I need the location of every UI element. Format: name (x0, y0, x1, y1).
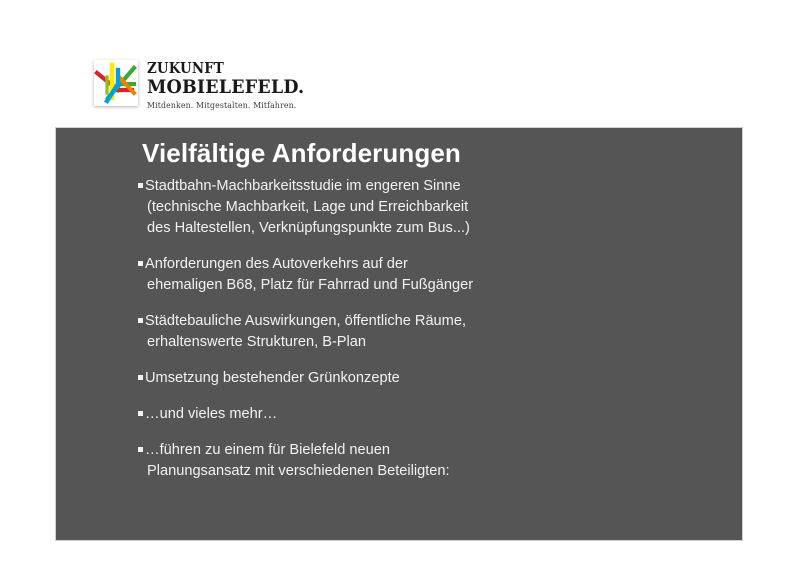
list-item: Städtebauliche Auswirkungen, öffentliche… (138, 311, 608, 353)
bullet-list: Stadtbahn-Machbarkeitsstudie im engeren … (138, 176, 608, 482)
list-item: …führen zu einem für Bielefeld neuen Pla… (138, 440, 608, 482)
zukunft-mobielefeld-star-logo (94, 60, 138, 106)
list-item: Umsetzung bestehender Grünkonzepte (138, 368, 608, 389)
list-item-text: …und vieles mehr… (145, 406, 277, 422)
list-item-text: …führen zu einem für Bielefeld neuen Pla… (145, 442, 450, 479)
brand-wordmark-line-1: ZUKUNFT (147, 62, 304, 77)
square-bullet-icon (138, 183, 143, 188)
square-bullet-icon (138, 261, 143, 266)
brand-tagline: Mitdenken. Mitgestalten. Mitfahren. (147, 101, 309, 109)
page-title: Vielfältige Anforderungen (142, 138, 461, 169)
list-item-text: Stadtbahn-Machbarkeitsstudie im engeren … (145, 178, 470, 236)
slide-content-panel: Vielfältige Anforderungen Stadtbahn-Mach… (56, 128, 742, 540)
list-item: Stadtbahn-Machbarkeitsstudie im engeren … (138, 176, 608, 239)
brand-wordmark: ZUKUNFT MOBIELEFELD. Mitdenken. Mitgesta… (147, 60, 318, 109)
list-item: …und vieles mehr… (138, 404, 608, 425)
square-bullet-icon (138, 318, 143, 323)
brand-wordmark-line-2: MOBIELEFELD. (147, 78, 304, 97)
square-bullet-icon (138, 375, 143, 380)
square-bullet-icon (138, 411, 143, 416)
list-item: Anforderungen des Autoverkehrs auf der e… (138, 254, 608, 296)
list-item-text: Umsetzung bestehender Grünkonzepte (145, 370, 400, 386)
brand-logo: ZUKUNFT MOBIELEFELD. Mitdenken. Mitgesta… (94, 60, 318, 109)
square-bullet-icon (138, 447, 143, 452)
list-item-text: Städtebauliche Auswirkungen, öffentliche… (145, 313, 466, 350)
list-item-text: Anforderungen des Autoverkehrs auf der e… (145, 256, 473, 293)
star-logo-graphic (94, 60, 138, 106)
